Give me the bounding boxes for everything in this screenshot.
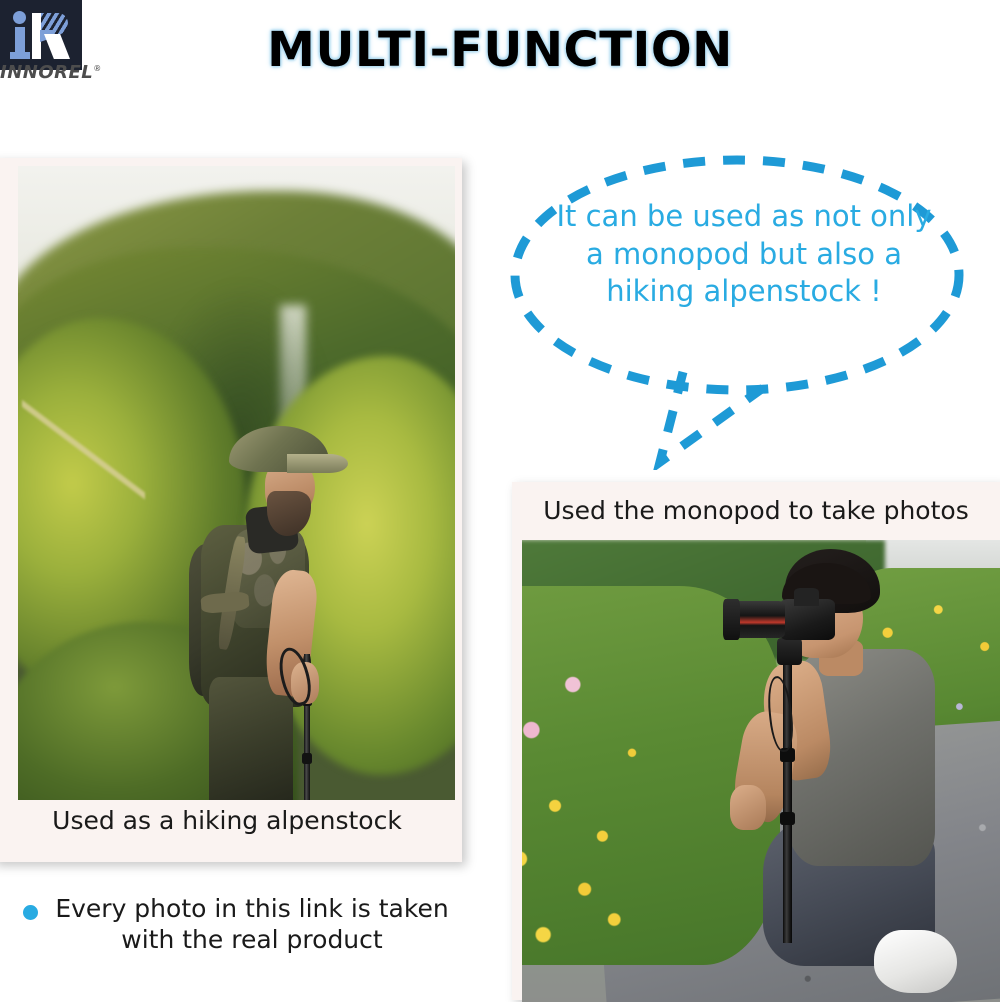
monopod-ball-head [777, 638, 802, 665]
photographer-gripping-hand [730, 785, 766, 830]
panel-monopod-photography: Used the monopod to take photos [512, 482, 1000, 1000]
hiker-figure [193, 426, 394, 800]
speech-bubble-text: It can be used as not only a monopod but… [554, 198, 934, 311]
panel-hiking-alpenstock: Used as a hiking alpenstock [0, 158, 462, 862]
panel-caption-left: Used as a hiking alpenstock [0, 806, 462, 835]
trekking-pole-lock-lower [302, 753, 312, 764]
hiker-cap-brim [287, 454, 347, 473]
dslr-lens-hood [723, 599, 740, 640]
speech-bubble: It can be used as not only a monopod but… [508, 150, 978, 470]
right-photo-scene [522, 540, 1000, 1002]
dslr-lens [733, 601, 786, 637]
photographer-sneaker [874, 930, 957, 993]
monopod-lock-lower [780, 812, 795, 826]
hiker-cargo-pants [209, 677, 293, 800]
photo-photographer-with-monopod [522, 540, 1000, 1002]
page-title: MULTI-FUNCTION [0, 22, 1000, 78]
photographer-figure [713, 549, 990, 1002]
panel-caption-right: Used the monopod to take photos [512, 496, 1000, 525]
bullet-point-icon [23, 905, 38, 920]
dslr-pentaprism [794, 588, 819, 606]
hiker-beard [267, 491, 311, 537]
left-photo-scene [18, 166, 455, 800]
dry-branch [22, 375, 144, 514]
photo-hiker-with-alpenstock [18, 166, 455, 800]
footnote-text: Every photo in this link is taken with t… [46, 893, 458, 956]
